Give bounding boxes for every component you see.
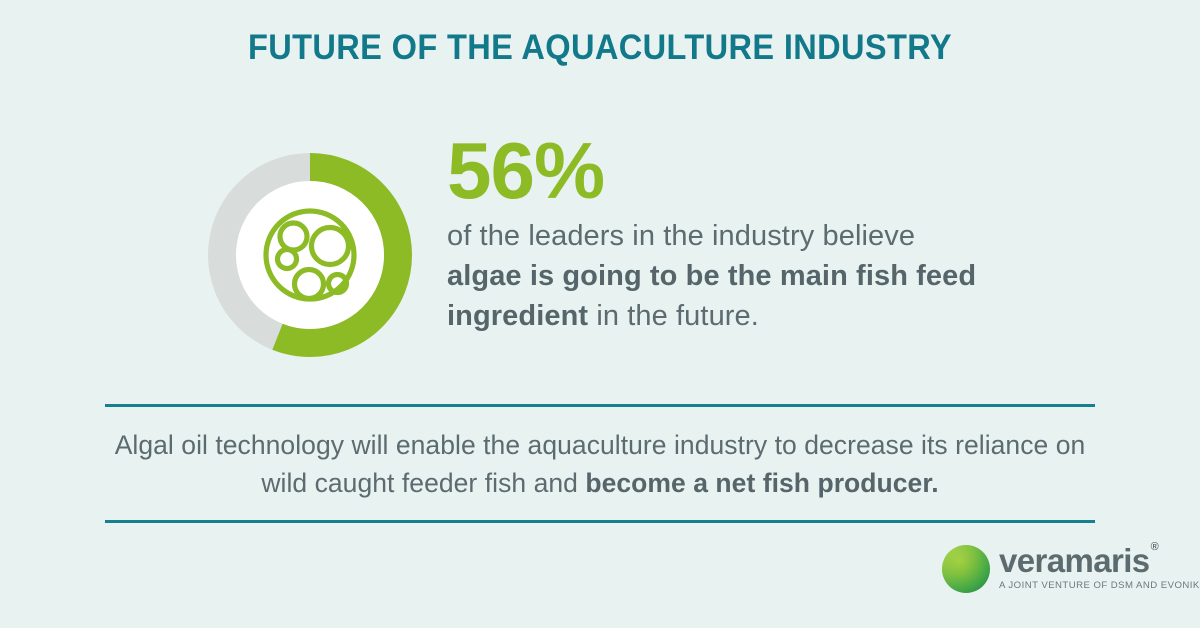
stat-description: of the leaders in the industry believe a…	[447, 216, 1107, 336]
logo-wordmark: veramaris®	[999, 544, 1157, 579]
quote-block: Algal oil technology will enable the aqu…	[105, 404, 1095, 523]
donut-inner-disc	[236, 181, 384, 329]
stat-percentage: 56%	[447, 132, 1107, 210]
stat-block: 56% of the leaders in the industry belie…	[447, 132, 1107, 336]
logo-tagline: A JOINT VENTURE OF DSM AND EVONIK	[999, 580, 1200, 591]
stat-line-1: of the leaders in the industry believe	[447, 220, 915, 252]
infographic-canvas: { "colors": { "background": "#e8f2f1", "…	[0, 0, 1200, 628]
quote-text: Algal oil technology will enable the aqu…	[105, 407, 1095, 520]
stat-tail: in the future.	[588, 300, 759, 332]
donut-chart-svg	[208, 153, 412, 357]
donut-chart	[208, 153, 412, 357]
logo-sphere-icon	[941, 544, 991, 594]
quote-emphasis: become a net fish producer.	[585, 468, 938, 498]
registered-trademark-icon: ®	[1151, 541, 1159, 553]
page-title: FUTURE OF THE AQUACULTURE INDUSTRY	[42, 28, 1158, 68]
stat-bold-1: algae is going to be the main fish feed	[447, 260, 976, 292]
logo-text-group: veramaris® A JOINT VENTURE OF DSM AND EV…	[999, 544, 1200, 591]
logo-wordmark-text: veramaris	[999, 542, 1150, 579]
stat-bold-2: ingredient	[447, 300, 588, 332]
quote-rule-bottom	[105, 520, 1095, 523]
veramaris-logo: veramaris® A JOINT VENTURE OF DSM AND EV…	[941, 542, 1161, 604]
